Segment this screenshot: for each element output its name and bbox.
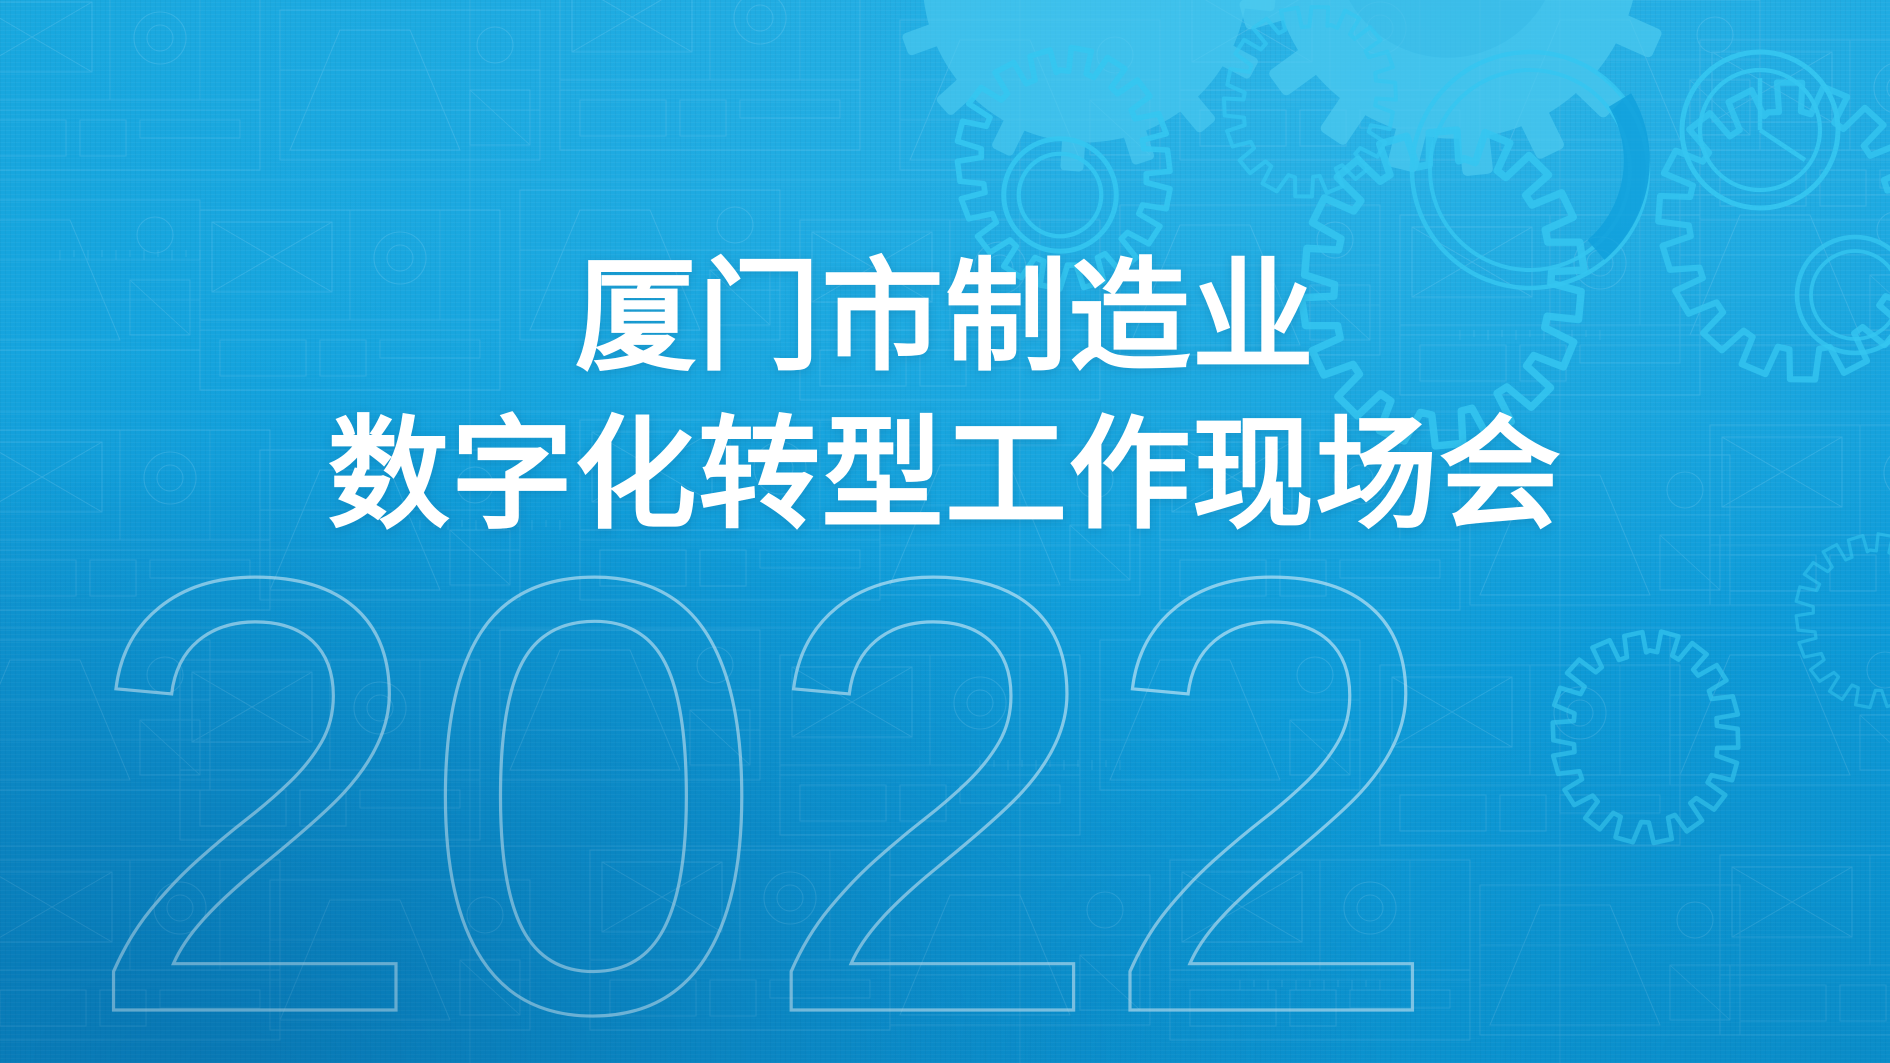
poster-title-line-2: 数字化转型工作现场会 (0, 414, 1890, 536)
poster-canvas: 2022 厦门市制造业 数字化转型工作现场会 (0, 0, 1890, 1063)
poster-title-block: 厦门市制造业 数字化转型工作现场会 (0, 256, 1890, 536)
poster-title-line-1: 厦门市制造业 (0, 256, 1890, 378)
